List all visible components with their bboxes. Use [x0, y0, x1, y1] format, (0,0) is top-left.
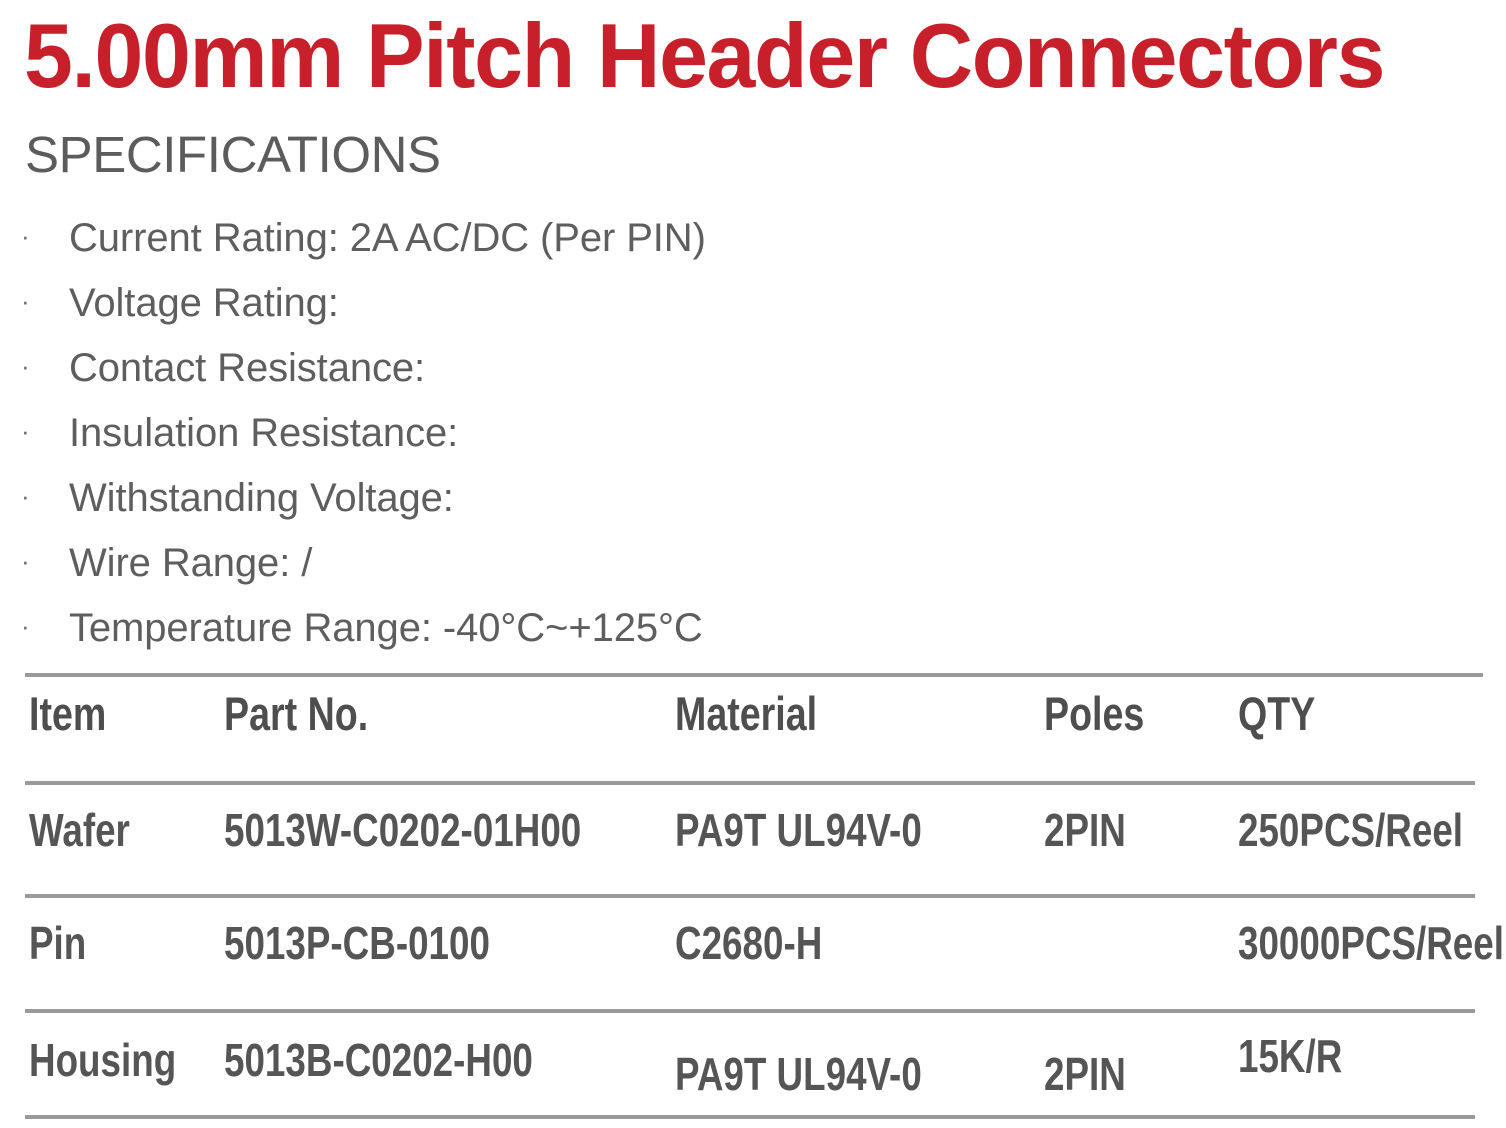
table-row: Housing 5013B-C0202-H00 PA9T UL94V-0 2PI…	[0, 1028, 1506, 1128]
column-header-poles: Poles	[1044, 682, 1144, 746]
bullet-icon: ·	[21, 465, 31, 530]
list-item: · Current Rating: 2A AC/DC (Per PIN)	[0, 205, 1000, 270]
list-item: · Contact Resistance:	[0, 335, 1000, 400]
cell-poles: 2PIN	[1044, 798, 1126, 862]
cell-part-no: 5013B-C0202-H00	[224, 1028, 533, 1092]
cell-item: Pin	[29, 911, 86, 975]
list-item: · Temperature Range: -40°C~+125°C	[0, 595, 1000, 660]
list-item-label: Wire Range: /	[69, 530, 312, 596]
cell-part-no: 5013W-C0202-01H00	[224, 798, 581, 862]
list-item: · Voltage Rating:	[0, 270, 1000, 335]
table-header-row: Item Part No. Material Poles QTY	[0, 682, 1506, 782]
list-item: · Insulation Resistance:	[0, 400, 1000, 465]
list-item-label: Withstanding Voltage:	[69, 465, 454, 531]
cell-qty: 250PCS/Reel	[1238, 798, 1463, 862]
list-item-label: Temperature Range: -40°C~+125°C	[69, 595, 703, 661]
bullet-icon: ·	[21, 335, 31, 400]
cell-material: C2680-H	[675, 911, 822, 975]
list-item: · Withstanding Voltage:	[0, 465, 1000, 530]
column-header-part-no: Part No.	[224, 682, 368, 746]
page-title: 5.00mm Pitch Header Connectors	[24, 7, 1384, 107]
list-item-label: Current Rating: 2A AC/DC (Per PIN)	[69, 205, 706, 271]
cell-item: Wafer	[29, 798, 130, 862]
table-row: Pin 5013P-CB-0100 C2680-H 30000PCS/Reel	[0, 911, 1506, 1011]
specifications-heading: SPECIFICATIONS	[25, 126, 441, 184]
column-header-material: Material	[675, 682, 817, 746]
datasheet-page: 5.00mm Pitch Header Connectors SPECIFICA…	[0, 0, 1506, 1125]
cell-material: PA9T UL94V-0	[675, 798, 922, 862]
list-item-label: Insulation Resistance:	[69, 400, 458, 466]
cell-poles: 2PIN	[1044, 1042, 1126, 1106]
bullet-icon: ·	[21, 595, 31, 660]
cell-qty: 15K/R	[1238, 1024, 1342, 1088]
cell-part-no: 5013P-CB-0100	[224, 911, 490, 975]
specifications-list: · Current Rating: 2A AC/DC (Per PIN) · V…	[0, 205, 1000, 660]
bullet-icon: ·	[21, 205, 31, 270]
bullet-icon: ·	[21, 400, 31, 465]
cell-item: Housing	[29, 1028, 176, 1092]
bullet-icon: ·	[21, 530, 31, 595]
column-header-qty: QTY	[1238, 682, 1315, 746]
cell-qty: 30000PCS/Reel	[1238, 911, 1504, 975]
table-top-rule	[25, 673, 1483, 677]
list-item-label: Voltage Rating:	[69, 270, 339, 336]
cell-material: PA9T UL94V-0	[675, 1042, 922, 1106]
table-row: Wafer 5013W-C0202-01H00 PA9T UL94V-0 2PI…	[0, 798, 1506, 898]
bullet-icon: ·	[21, 270, 31, 335]
list-item: · Wire Range: /	[0, 530, 1000, 595]
list-item-label: Contact Resistance:	[69, 335, 425, 401]
column-header-item: Item	[29, 682, 106, 746]
